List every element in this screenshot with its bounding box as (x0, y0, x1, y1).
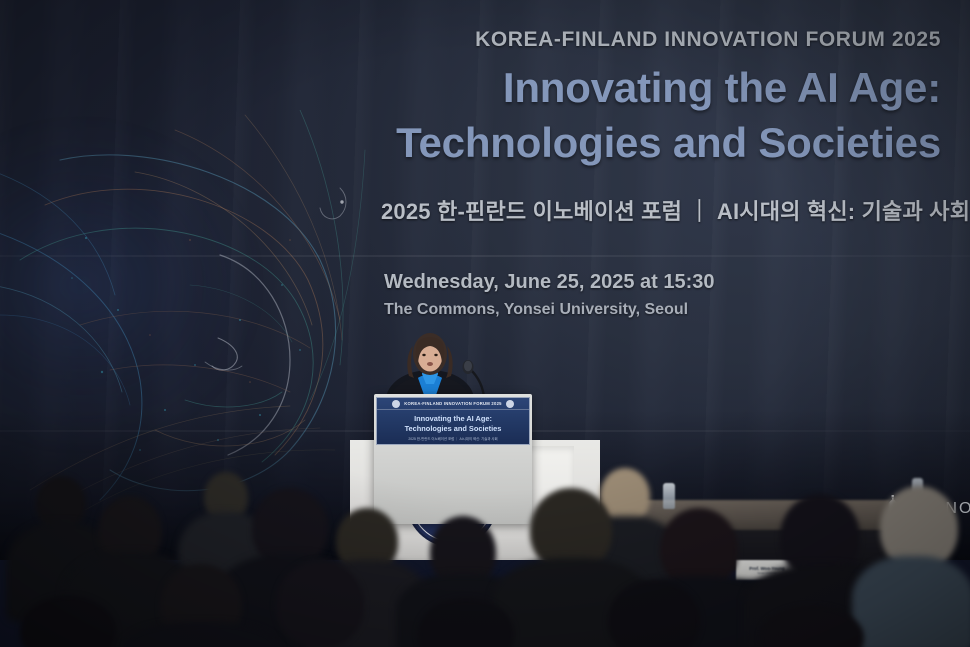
event-korean-subtitle: 2025 한-핀란드 이노베이션 포럼 ｜ AI시대의 혁신: 기술과 사회 (381, 194, 941, 226)
audience (0, 430, 970, 647)
event-headline: Innovating the AI Age: Technologies and … (381, 61, 941, 170)
headline-line-2: Technologies and Societies (381, 116, 941, 171)
podium-logo-left-icon (392, 400, 400, 408)
audience-body (852, 556, 970, 647)
podium-logo-right-icon (506, 400, 514, 408)
audience-head (276, 560, 364, 647)
event-venue: The Commons, Yonsei University, Seoul (384, 301, 941, 319)
podium-sign-title-1: Innovating the AI Age: (377, 414, 529, 424)
podium-sign-kicker: KOREA-FINLAND INNOVATION FORUM 2025 (404, 401, 501, 406)
banner-text-block: KOREA-FINLAND INNOVATION FORUM 2025 Inno… (381, 28, 941, 319)
event-datetime: Wednesday, June 25, 2025 at 15:30 (384, 271, 941, 294)
headline-line-1: Innovating the AI Age: (381, 61, 941, 116)
conference-photo: KOREA-FINLAND INNOVATION FORUM 2025 Inno… (0, 0, 970, 647)
event-kicker: KOREA-FINLAND INNOVATION FORUM 2025 (381, 28, 941, 52)
podium-sign-header: KOREA-FINLAND INNOVATION FORUM 2025 (377, 398, 529, 410)
